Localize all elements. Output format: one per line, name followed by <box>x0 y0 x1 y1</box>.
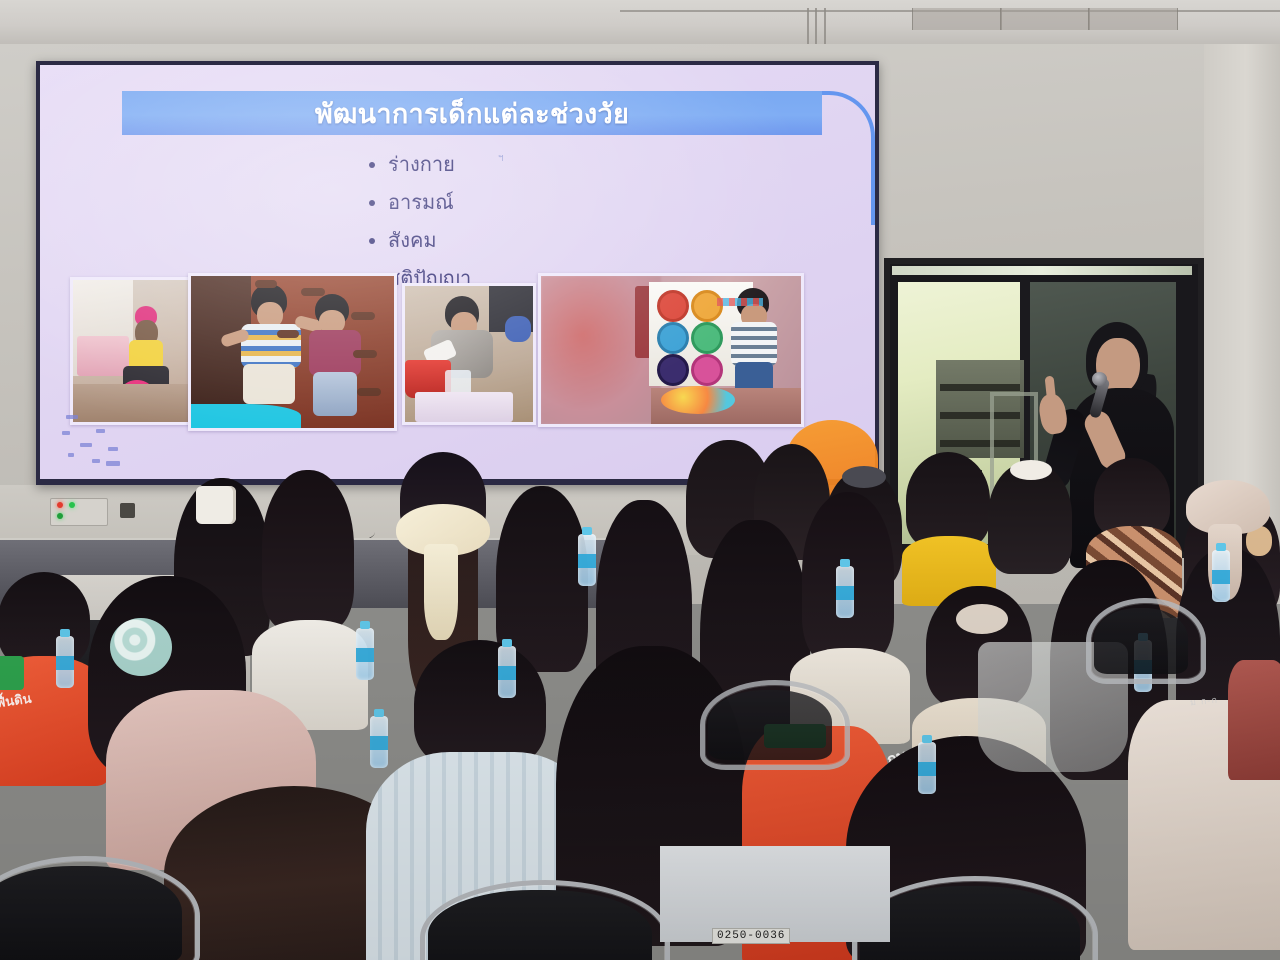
water-bottle[interactable] <box>578 534 596 586</box>
slide-faint-marks <box>62 409 252 461</box>
hair <box>262 470 354 630</box>
ceiling-panel <box>1088 8 1178 30</box>
light-scrunchie <box>956 604 1008 634</box>
chair-rim <box>0 856 200 960</box>
slide-photo-tricycle <box>70 277 196 425</box>
maroon-top <box>1228 660 1280 780</box>
chair-rim <box>420 880 670 960</box>
slide-bullet-2: อารมณ์ <box>388 185 471 219</box>
chair[interactable] <box>700 680 840 760</box>
status-led-green <box>69 502 75 508</box>
chair-rim <box>700 680 850 770</box>
hair <box>906 452 990 548</box>
status-led-green <box>57 513 63 519</box>
ceiling-panel <box>1000 8 1090 30</box>
hair <box>414 640 546 768</box>
hair <box>0 572 90 668</box>
shelf-bar <box>940 384 1020 391</box>
black-scrunchie <box>842 466 886 488</box>
water-bottle[interactable] <box>498 646 516 698</box>
water-bottle[interactable] <box>918 742 936 794</box>
water-bottle[interactable] <box>356 628 374 680</box>
door-header-bar <box>892 266 1192 275</box>
audience-member <box>262 470 354 670</box>
slide-bullet-1: ร่างกาย <box>388 147 471 181</box>
water-bottle[interactable] <box>836 566 854 618</box>
pearl-hair-clip <box>1010 460 1052 480</box>
water-bottle[interactable] <box>56 636 74 688</box>
presenter-index-finger <box>1045 376 1057 405</box>
chair[interactable] <box>1086 598 1196 674</box>
microphone-head <box>1092 372 1107 386</box>
water-bottle[interactable] <box>1212 550 1230 602</box>
status-led-red <box>57 502 63 508</box>
slide-photo-climbing-wall <box>188 273 397 431</box>
slide-title: พัฒนาการเด็กแต่ละช่วงวัย <box>122 91 822 135</box>
chair-label-text: ม ก-ก <box>1189 693 1218 710</box>
light-blue-scrunchie <box>110 618 172 676</box>
chair-rim <box>1086 598 1206 684</box>
chair[interactable] <box>420 880 660 960</box>
chair[interactable] <box>0 856 190 960</box>
bow-tail <box>424 544 458 640</box>
asset-tag: 0250-0036 <box>712 928 790 944</box>
seminar-room-photo: พัฒนาการเด็กแต่ละช่วงวัย ร่างกาย อารมณ์ … <box>0 0 1280 960</box>
slide-photo-color-board <box>538 273 804 427</box>
slide-surface: พัฒนาการเด็กแต่ละช่วงวัย ร่างกาย อารมณ์ … <box>40 65 875 479</box>
slide-photo-pouring-water <box>402 283 536 425</box>
pearl-hair-clip <box>196 486 236 524</box>
audience-member <box>906 452 990 582</box>
slide-bullet-3: สังคม <box>388 223 471 257</box>
projection-screen: พัฒนาการเด็กแต่ละช่วงวัย ร่างกาย อารมณ์ … <box>36 61 879 485</box>
slide-ghost-mark: ฯ <box>498 151 504 166</box>
water-bottle[interactable] <box>370 716 388 768</box>
green-collar <box>0 656 24 690</box>
ceiling-panel <box>912 8 1002 30</box>
audience-member <box>1228 660 1280 780</box>
